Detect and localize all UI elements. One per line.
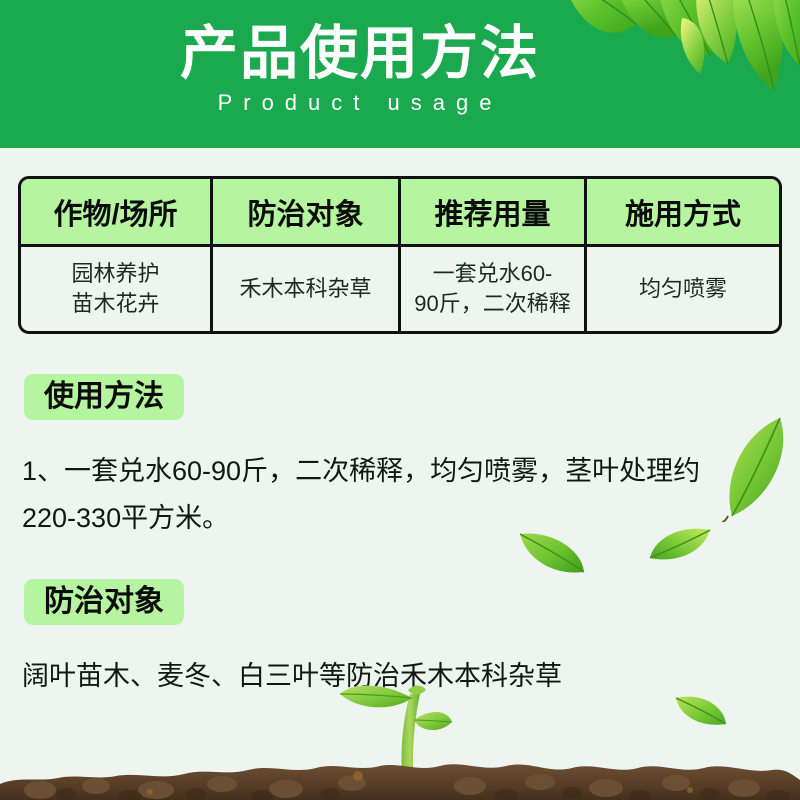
table-header-row: 作物/场所 防治对象 推荐用量 施用方式: [21, 179, 779, 247]
table-header-dosage: 推荐用量: [401, 179, 587, 244]
section-text-usage: 1、一套兑水60-90斤，二次稀释，均匀喷雾，茎叶处理约220-330平方米。: [22, 448, 722, 542]
table-header-target: 防治对象: [213, 179, 401, 244]
leaf-icon: [714, 412, 794, 522]
spec-table: 作物/场所 防治对象 推荐用量 施用方式 园林养护 苗木花卉 禾木本科杂草 一套…: [18, 176, 782, 334]
soil-strip-icon: [0, 764, 800, 800]
table-row: 园林养护 苗木花卉 禾木本科杂草 一套兑水60- 90斤，二次稀释 均匀喷雾: [21, 247, 779, 331]
page-title: 产品使用方法: [0, 22, 800, 86]
header-banner: 产品使用方法 Product usage: [0, 0, 800, 148]
seedling-icon: [340, 685, 452, 798]
table-cell-crop-site: 园林养护 苗木花卉: [21, 247, 213, 331]
section-badge-target: 防治对象: [24, 579, 184, 625]
section-text-target: 阔叶苗木、麦冬、白三叶等防治禾木本科杂草: [22, 653, 722, 700]
page-subtitle: Product usage: [0, 90, 800, 116]
table-header-crop-site: 作物/场所: [21, 179, 213, 244]
table-cell-dosage: 一套兑水60- 90斤，二次稀释: [401, 247, 587, 331]
section-badge-usage: 使用方法: [24, 374, 184, 420]
table-header-application: 施用方式: [587, 179, 779, 244]
table-cell-application: 均匀喷雾: [587, 247, 779, 331]
table-cell-target: 禾木本科杂草: [213, 247, 401, 331]
